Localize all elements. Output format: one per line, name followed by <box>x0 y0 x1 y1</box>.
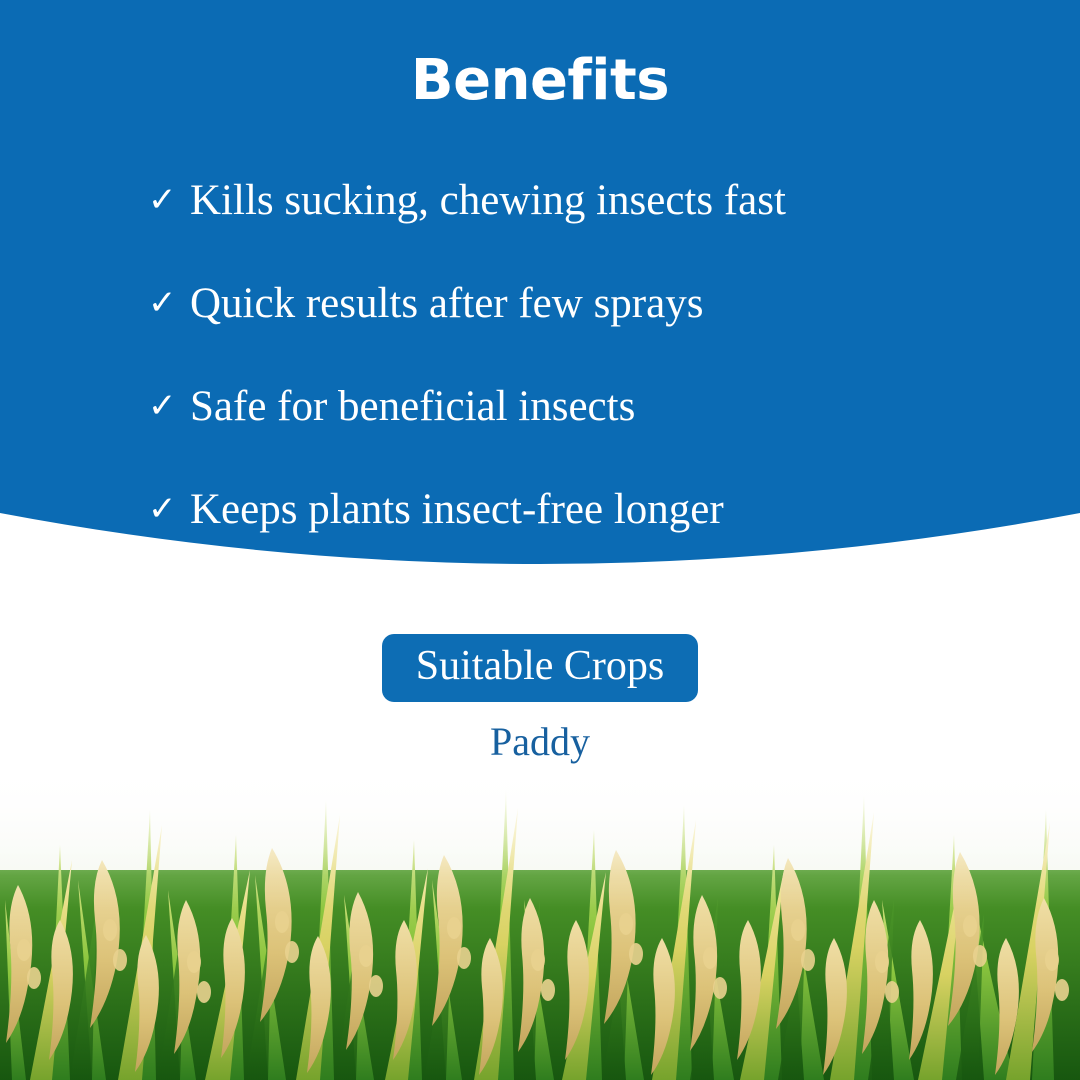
benefit-item: ✓ Quick results after few sprays <box>148 252 1080 355</box>
check-icon: ✓ <box>148 286 190 320</box>
benefit-label: Keeps plants insect-free longer <box>190 485 724 534</box>
suitable-crops-badge: Suitable Crops <box>382 634 699 702</box>
benefits-infographic: Benefits ✓ Kills sucking, chewing insect… <box>0 0 1080 1080</box>
benefit-item: ✓ Keeps plants insect-free longer <box>148 458 1080 561</box>
header-content: Benefits ✓ Kills sucking, chewing insect… <box>0 0 1080 561</box>
paddy-field-illustration <box>0 750 1080 1080</box>
suitable-crops-section: Suitable Crops Paddy <box>0 600 1080 764</box>
check-icon: ✓ <box>148 183 190 217</box>
suitable-crops-value: Paddy <box>0 720 1080 764</box>
benefit-label: Safe for beneficial insects <box>190 382 635 431</box>
check-icon: ✓ <box>148 492 190 526</box>
benefit-item: ✓ Safe for beneficial insects <box>148 355 1080 458</box>
benefit-item: ✓ Kills sucking, chewing insects fast <box>148 149 1080 252</box>
page-title: Benefits <box>0 52 1080 111</box>
benefit-label: Kills sucking, chewing insects fast <box>190 176 786 225</box>
check-icon: ✓ <box>148 389 190 423</box>
benefits-list: ✓ Kills sucking, chewing insects fast ✓ … <box>0 149 1080 561</box>
benefit-label: Quick results after few sprays <box>190 279 703 328</box>
paddy-field-photo <box>0 750 1080 1080</box>
